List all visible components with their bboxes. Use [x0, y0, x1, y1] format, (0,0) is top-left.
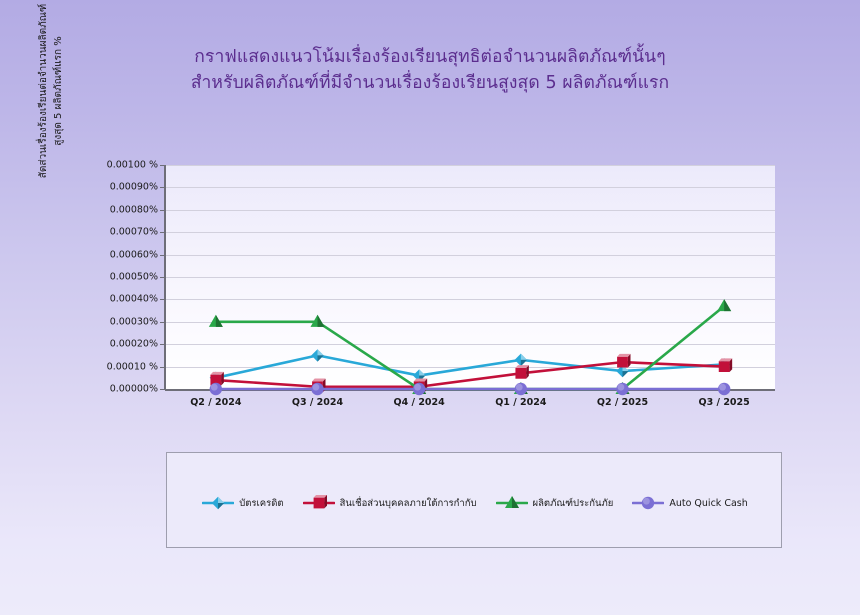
legend-item-4[interactable]: Auto Quick Cash: [632, 495, 747, 511]
x-tick-label: Q3 / 2025: [699, 397, 750, 408]
y-tick-label: 0.00070%: [110, 227, 158, 238]
title-line-2: สำหรับผลิตภัณฑ์ที่มีจำนวนเรื่องร้องเรียน…: [0, 70, 860, 96]
y-tick-label: 0.00020%: [110, 339, 158, 350]
data-point-circle: [515, 383, 527, 395]
data-point-triangle: [717, 299, 731, 311]
y-tick-label: 0.00060%: [110, 249, 158, 260]
legend-swatch-diamond-icon: [202, 495, 234, 511]
data-point-diamond: [515, 354, 527, 366]
data-point-square: [719, 358, 732, 372]
legend-entries: บัตรเครดิตสินเชื่อส่วนบุคคลภายใต้การกำกั…: [167, 493, 783, 513]
x-tick-label: Q3 / 2024: [292, 397, 343, 408]
data-point-diamond: [311, 349, 323, 361]
plot-area: 0.00000%0.00010 %0.00020%0.00030%0.00040…: [165, 165, 775, 389]
series-line: [216, 306, 724, 389]
series-line: [216, 355, 724, 377]
legend-swatch-circle-icon: [632, 495, 664, 511]
legend-swatch-triangle-icon: [496, 495, 528, 511]
legend-item-1[interactable]: บัตรเครดิต: [202, 495, 283, 511]
x-tick-label: Q1 / 2024: [495, 397, 546, 408]
x-tick-label: Q2 / 2025: [597, 397, 648, 408]
data-point-square: [617, 354, 630, 368]
legend-item-2[interactable]: สินเชื่อส่วนบุคคลภายใต้การกำกับ: [303, 495, 477, 511]
y-tick-label: 0.00100 %: [107, 160, 158, 171]
y-tick-label: 0.00010 %: [107, 361, 158, 372]
chart-screenshot: กราฟแสดงแนวโน้มเรื่องร้องเรียนสุทธิต่อจำ…: [0, 0, 860, 615]
y-tick-label: 0.00040%: [110, 294, 158, 305]
y-axis-title: สัดส่วนเรื่องร้องเรียนต่อจำนวนผลิตภัณฑ์ …: [36, 0, 72, 206]
series-line: [216, 362, 724, 387]
legend-swatch-square-icon: [303, 495, 335, 511]
title-line-1: กราฟแสดงแนวโน้มเรื่องร้องเรียนสุทธิต่อจำ…: [0, 44, 860, 70]
y-axis-title-line-1: สัดส่วนเรื่องร้องเรียนต่อจำนวนผลิตภัณฑ์: [36, 0, 51, 206]
series-square: [210, 354, 732, 392]
y-tick-label: 0.00000%: [110, 384, 158, 395]
data-point-circle: [616, 383, 628, 395]
data-point-square: [515, 365, 528, 379]
legend: บัตรเครดิตสินเชื่อส่วนบุคคลภายใต้การกำกั…: [166, 452, 782, 548]
data-point-diamond: [212, 497, 224, 509]
legend-label: สินเชื่อส่วนบุคคลภายใต้การกำกับ: [340, 496, 477, 511]
legend-label: บัตรเครดิต: [239, 496, 283, 511]
data-point-circle: [718, 383, 730, 395]
legend-item-3[interactable]: ผลิตภัณฑ์ประกันภัย: [496, 495, 614, 511]
x-tick-label: Q2 / 2024: [190, 397, 241, 408]
data-point-circle: [210, 383, 222, 395]
legend-label: Auto Quick Cash: [669, 498, 747, 509]
data-point-circle: [642, 497, 654, 509]
data-point-circle: [311, 383, 323, 395]
page-title: กราฟแสดงแนวโน้มเรื่องร้องเรียนสุทธิต่อจำ…: [0, 44, 860, 96]
data-point-circle: [413, 383, 425, 395]
y-tick-label: 0.00050%: [110, 272, 158, 283]
y-tick-label: 0.00090%: [110, 182, 158, 193]
y-tick-label: 0.00080%: [110, 204, 158, 215]
y-tick-label: 0.00030%: [110, 316, 158, 327]
data-point-square: [313, 495, 326, 508]
x-tick-label: Q4 / 2024: [394, 397, 445, 408]
y-axis-title-line-2: สูงสุด 5 ผลิตภัณฑ์แรก %: [51, 0, 66, 206]
legend-label: ผลิตภัณฑ์ประกันภัย: [533, 496, 614, 511]
series-layer: [165, 165, 775, 389]
